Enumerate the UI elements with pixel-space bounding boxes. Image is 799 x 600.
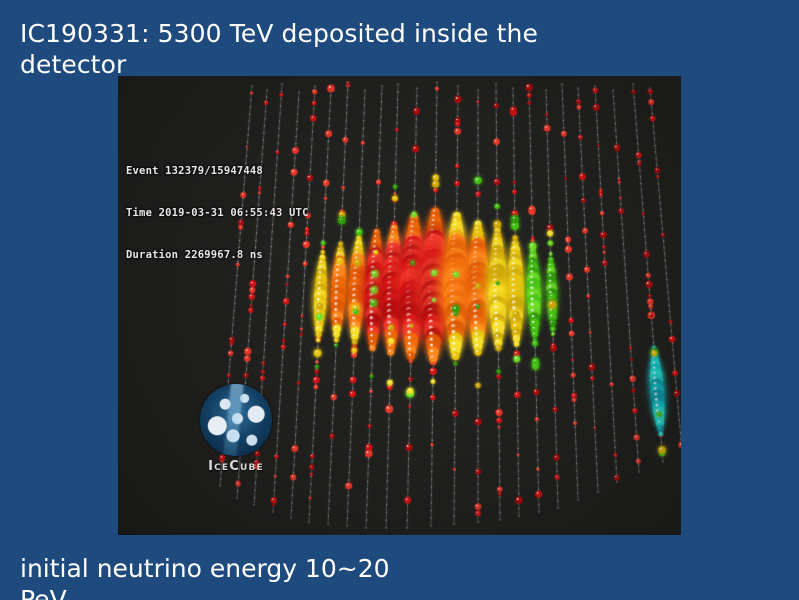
presentation-slide: IC190331: 5300 TeV deposited inside the …: [0, 0, 799, 600]
icecube-logo-disc-icon: [200, 384, 272, 456]
icecube-logo: IceCube: [196, 384, 276, 477]
icecube-logo-wordmark: IceCube: [196, 459, 276, 474]
slide-caption: initial neutrino energy 10~20 PeV: [20, 553, 720, 600]
icecube-event-display: Event 132379/15947448 Time 2019-03-31 06…: [118, 76, 681, 535]
page-title: IC190331: 5300 TeV deposited inside the …: [20, 18, 660, 80]
icecube-logo-beam-icon: [223, 384, 244, 456]
